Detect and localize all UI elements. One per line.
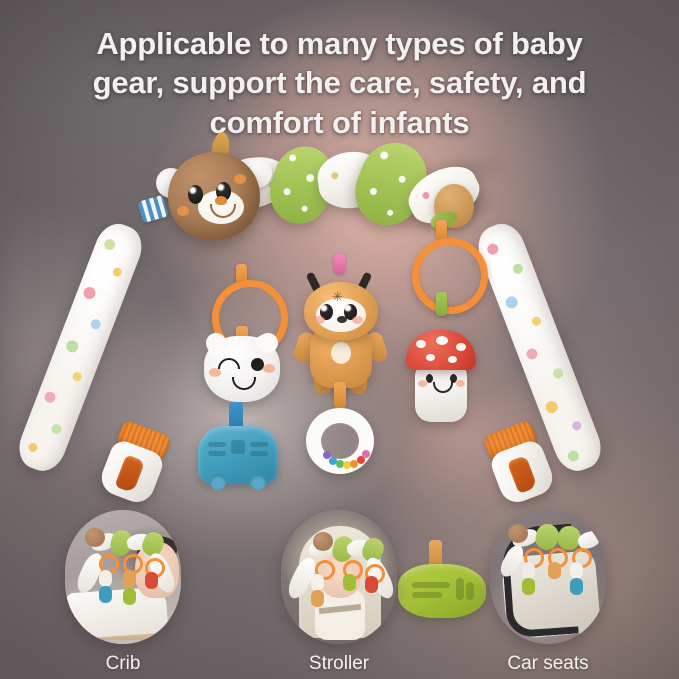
headline: Applicable to many types of baby gear, s…	[0, 24, 679, 142]
cat-cheek-left	[209, 368, 221, 377]
use-case-car-seats[interactable]: Car seats	[480, 510, 616, 675]
end-clip-left	[97, 419, 174, 507]
bear-plush-head	[168, 152, 260, 240]
deer-plush-toy: ✳	[298, 274, 384, 390]
rattle-strap	[334, 382, 346, 408]
use-case-crib-thumbnail[interactable]	[65, 510, 181, 644]
stroller-scene	[281, 510, 397, 644]
cat-plush-rattle	[204, 336, 280, 402]
deer-cheek-left	[314, 316, 325, 324]
deer-belly	[331, 342, 351, 364]
mushroom-stalk	[415, 364, 467, 422]
mushroom-green-connector	[436, 292, 447, 316]
crib-mini-spiral-toy	[75, 524, 171, 598]
use-case-stroller-thumbnail[interactable]	[281, 510, 397, 644]
bear-cheek-right	[234, 174, 246, 184]
bear-ribbon-tag	[137, 195, 168, 223]
hanger-connector-right	[436, 220, 447, 240]
use-case-row: Crib	[0, 500, 679, 679]
deer-pink-connector	[334, 254, 345, 274]
car-teether	[198, 426, 278, 484]
mushroom-cheek-left	[418, 380, 427, 387]
deer-nose	[337, 316, 347, 323]
product-hero: ✳	[0, 130, 679, 510]
use-case-stroller[interactable]: Stroller	[271, 510, 407, 675]
use-case-stroller-label: Stroller	[271, 653, 407, 675]
o-ring-right	[412, 238, 488, 314]
mushroom-cap	[406, 330, 476, 370]
mushroom-plush-rattle	[406, 330, 476, 422]
crib-scene	[65, 510, 181, 644]
car-seat-scene	[490, 510, 606, 644]
mushroom-eye-left	[426, 374, 433, 383]
bead-rattle-ring	[306, 408, 374, 474]
bear-cheek-left	[177, 206, 189, 216]
stroller-mini-spiral-toy	[289, 528, 389, 606]
use-case-crib-label: Crib	[55, 653, 191, 675]
use-case-car-seats-thumbnail[interactable]	[490, 510, 606, 644]
headline-line-2: gear, support the care, safety, and	[18, 63, 661, 102]
use-case-car-seats-label: Car seats	[480, 653, 616, 675]
car-seat-mini-spiral-toy	[502, 520, 600, 596]
cat-cheek-right	[263, 364, 275, 373]
end-clip-right	[481, 419, 558, 507]
bear-eye-left	[188, 185, 203, 204]
headline-line-1: Applicable to many types of baby	[18, 24, 661, 63]
mushroom-cheek-right	[456, 380, 465, 387]
deer-forehead-star: ✳	[332, 290, 343, 303]
product-lifestyle-image: Applicable to many types of baby gear, s…	[0, 0, 679, 679]
deer-cheek-right	[352, 316, 363, 324]
use-case-crib[interactable]: Crib	[55, 510, 191, 675]
